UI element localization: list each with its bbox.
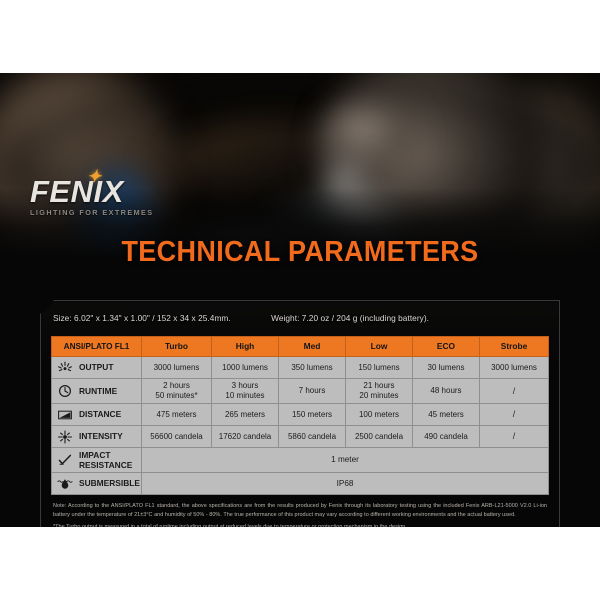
cell-distance-turbo: 475 meters — [142, 404, 212, 426]
table-row: IMPACT RESISTANCE 1 meter — [52, 448, 549, 473]
brand-wordmark: FENIX ✦ — [30, 176, 160, 207]
light-rays-icon — [57, 361, 73, 375]
cell-output-turbo: 3000 lumens — [142, 357, 212, 379]
column-header-turbo: Turbo — [142, 337, 212, 357]
row-label-text: OUTPUT — [79, 362, 113, 372]
cell-distance-high: 265 meters — [212, 404, 279, 426]
row-label-distance: DISTANCE — [52, 404, 142, 426]
column-header-strobe: Strobe — [480, 337, 549, 357]
weight-text: Weight: 7.20 oz / 204 g (including batte… — [271, 313, 429, 323]
cell-intensity-turbo: 56600 candela — [142, 426, 212, 448]
table-row: DISTANCE 475 meters 265 meters 150 meter… — [52, 404, 549, 426]
cell-intensity-high: 17620 candela — [212, 426, 279, 448]
table-row: OUTPUT 3000 lumens 1000 lumens 350 lumen… — [52, 357, 549, 379]
cell-runtime-strobe: / — [480, 379, 549, 404]
note-main: Note: According to the ANSI/PLATO FL1 st… — [53, 502, 547, 520]
page-title: TECHNICAL PARAMETERS — [21, 236, 579, 269]
hero-background-photo — [0, 73, 600, 258]
brand-logo: FENIX ✦ LIGHTING FOR EXTREMES — [30, 176, 160, 217]
cell-output-high: 1000 lumens — [212, 357, 279, 379]
row-label-text: DISTANCE — [79, 409, 121, 419]
row-label-impact-resistance: IMPACT RESISTANCE — [52, 448, 142, 473]
cell-intensity-strobe: / — [480, 426, 549, 448]
row-label-text: IMPACT RESISTANCE — [79, 450, 132, 471]
cell-distance-med: 150 meters — [279, 404, 346, 426]
cell-output-strobe: 3000 lumens — [480, 357, 549, 379]
size-text: Size: 6.02" x 1.34" x 1.00" / 152 x 34 x… — [53, 313, 231, 323]
intensity-crosshair-icon — [57, 430, 73, 444]
cell-intensity-med: 5860 candela — [279, 426, 346, 448]
cell-runtime-med: 7 hours — [279, 379, 346, 404]
brand-tagline: LIGHTING FOR EXTREMES — [30, 208, 160, 217]
row-label-output: OUTPUT — [52, 357, 142, 379]
clock-icon — [57, 384, 73, 398]
table-header-row: ANSI/PLATO FL1 Turbo High Med Low ECO St… — [52, 337, 549, 357]
cell-intensity-eco: 490 candela — [413, 426, 480, 448]
column-header-med: Med — [279, 337, 346, 357]
impact-resistance-icon — [57, 453, 73, 467]
row-label-submersible: SUBMERSIBLE — [52, 473, 142, 495]
cell-runtime-low: 21 hours 20 minutes — [346, 379, 413, 404]
cell-runtime-turbo: 2 hours 50 minutes* — [142, 379, 212, 404]
note-footnote: *The Turbo output is measured in a total… — [53, 523, 547, 527]
cell-distance-low: 100 meters — [346, 404, 413, 426]
brand-name-text: FENIX — [30, 174, 124, 209]
poster-stage: FENIX ✦ LIGHTING FOR EXTREMES TECHNICAL … — [0, 73, 600, 527]
cell-submersible-value: IP68 — [142, 473, 549, 495]
row-label-text: INTENSITY — [79, 431, 123, 441]
cell-impact-resistance-value: 1 meter — [142, 448, 549, 473]
table-row: RUNTIME 2 hours 50 minutes* 3 hours 10 m… — [52, 379, 549, 404]
column-header-low: Low — [346, 337, 413, 357]
table-row: SUBMERSIBLE IP68 — [52, 473, 549, 495]
row-label-text: SUBMERSIBLE — [79, 478, 140, 488]
column-header-standard: ANSI/PLATO FL1 — [52, 337, 142, 357]
column-header-high: High — [212, 337, 279, 357]
cell-intensity-low: 2500 candela — [346, 426, 413, 448]
cell-output-med: 350 lumens — [279, 357, 346, 379]
beam-distance-icon — [57, 408, 73, 422]
cell-runtime-eco: 48 hours — [413, 379, 480, 404]
cell-distance-eco: 45 meters — [413, 404, 480, 426]
notes-block: Note: According to the ANSI/PLATO FL1 st… — [53, 502, 547, 527]
row-label-runtime: RUNTIME — [52, 379, 142, 404]
table-body: OUTPUT 3000 lumens 1000 lumens 350 lumen… — [52, 357, 549, 495]
cell-output-low: 150 lumens — [346, 357, 413, 379]
dimensions-line: Size: 6.02" x 1.34" x 1.00" / 152 x 34 x… — [53, 313, 553, 323]
row-label-text: RUNTIME — [79, 386, 117, 396]
cell-runtime-high: 3 hours 10 minutes — [212, 379, 279, 404]
column-header-eco: ECO — [413, 337, 480, 357]
water-drop-icon — [57, 477, 73, 491]
cell-distance-strobe: / — [480, 404, 549, 426]
technical-parameters-table: ANSI/PLATO FL1 Turbo High Med Low ECO St… — [51, 336, 549, 495]
row-label-intensity: INTENSITY — [52, 426, 142, 448]
table-row: INTENSITY 56600 candela 17620 candela 58… — [52, 426, 549, 448]
cell-output-eco: 30 lumens — [413, 357, 480, 379]
